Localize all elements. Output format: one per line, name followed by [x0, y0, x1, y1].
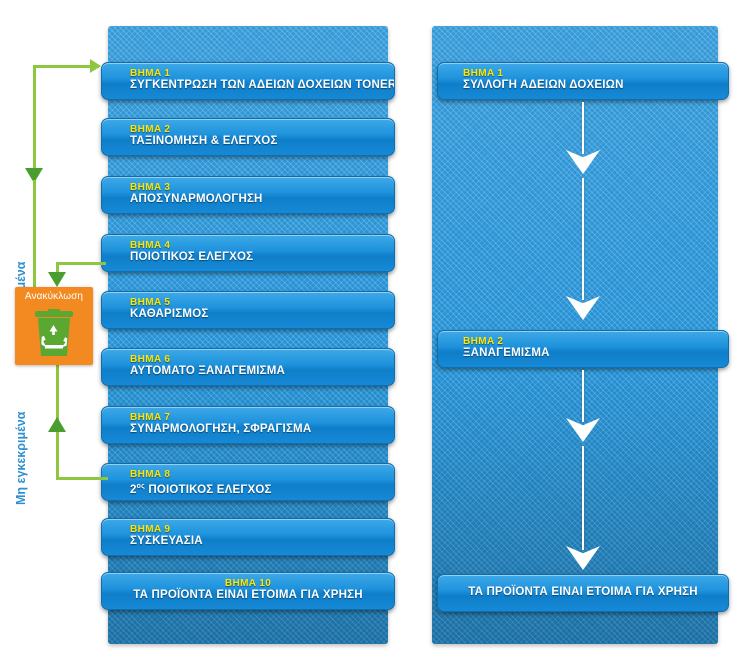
right-step-2-number: BHMA 2 — [463, 336, 728, 347]
left-step-2[interactable]: BHMA 2 ΤΑΞΙΝΟΜΗΣΗ & ΕΛΕΓΧΟΣ — [101, 118, 395, 156]
left-step-2-title: ΤΑΞΙΝΟΜΗΣΗ & ΕΛΕΓΧΟΣ — [130, 135, 394, 148]
reject-label-bottom: Μη εγκεκριμένα — [14, 412, 28, 505]
left-step-4-number: BHMA 4 — [130, 240, 394, 251]
right-final-step-title: ΤΑ ΠΡΟΪΟΝΤΑ ΕΙΝΑΙ ΕΤΟΙΜΑ ΓΙΑ ΧΡΗΣΗ — [438, 586, 728, 599]
left-step-3-title: ΑΠΟΣΥΝΑΡΜΟΛΟΓΗΣΗ — [130, 193, 394, 206]
left-step-9[interactable]: BHMA 9 ΣΥΣΚΕΥΑΣΙΑ — [101, 518, 395, 556]
left-step-5-number: BHMA 5 — [130, 297, 394, 308]
left-step-9-number: BHMA 9 — [130, 524, 394, 535]
flow-arrow-down-1 — [566, 102, 600, 176]
right-step-2-title: ΞΑΝΑΓΕΜΙΣΜΑ — [463, 347, 728, 360]
left-step-4[interactable]: BHMA 4 ΠΟΙΟΤΙΚΟΣ ΕΛΕΓΧΟΣ — [101, 234, 395, 272]
flow-arrow-down-2 — [566, 178, 600, 322]
recycling-box-label: Ανακύκλωση — [15, 291, 93, 302]
right-step-1-title: ΣΥΛΛΟΓΗ ΑΔΕΙΩΝ ΔΟΧΕΙΩΝ — [463, 79, 728, 92]
left-step-1[interactable]: BHMA 1 ΣΥΓΚΕΝΤΡΩΣΗ ΤΩΝ ΑΔΕΙΩΝ ΔΟΧΕΙΩΝ TO… — [101, 62, 395, 100]
recycle-line-upper-vertical — [33, 65, 36, 170]
left-step-8-number: BHMA 8 — [130, 469, 394, 480]
left-step-10[interactable]: BHMA 10 ΤΑ ΠΡΟΪΟΝΤΑ ΕΙΝΑΙ ΕΤΟΙΜΑ ΓΙΑ ΧΡΗ… — [101, 572, 395, 610]
right-final-step[interactable]: ΤΑ ΠΡΟΪΟΝΤΑ ΕΙΝΑΙ ΕΤΟΙΜΑ ΓΙΑ ΧΡΗΣΗ — [437, 574, 729, 612]
recycle-line-upper-vertical-2 — [33, 180, 36, 290]
left-step-6[interactable]: BHMA 6 ΑΥΤΟΜΑΤΟ ΞΑΝΑΓΕΜΙΣΜΑ — [101, 348, 395, 386]
left-step-5[interactable]: BHMA 5 ΚΑΘΑΡΙΣΜΟΣ — [101, 291, 395, 329]
left-step-10-title: ΤΑ ΠΡΟΪΟΝΤΑ ΕΙΝΑΙ ΕΤΟΙΜΑ ΓΙΑ ΧΡΗΣΗ — [102, 589, 394, 602]
flow-arrow-down-3 — [566, 370, 600, 444]
recycle-line-step8-horizontal — [56, 477, 108, 480]
left-step-4-title: ΠΟΙΟΤΙΚΟΣ ΕΛΕΓΧΟΣ — [130, 251, 394, 264]
left-step-1-title: ΣΥΓΚΕΝΤΡΩΣΗ ΤΩΝ ΑΔΕΙΩΝ ΔΟΧΕΙΩΝ TONER — [130, 79, 394, 92]
recycle-bin-icon — [33, 309, 75, 357]
left-step-1-number: BHMA 1 — [130, 68, 394, 79]
recycle-arrowhead-down-step4 — [48, 272, 66, 287]
recycling-box[interactable]: Ανακύκλωση — [15, 287, 93, 365]
left-step-6-title: ΑΥΤΟΜΑΤΟ ΞΑΝΑΓΕΜΙΣΜΑ — [130, 365, 394, 378]
left-step-7[interactable]: BHMA 7 ΣΥΝΑΡΜΟΛΟΓΗΣΗ, ΣΦΡΑΓΙΣΜΑ — [101, 406, 395, 444]
left-step-7-number: BHMA 7 — [130, 412, 394, 423]
recycle-line-step4-horizontal — [56, 262, 106, 265]
right-step-2[interactable]: BHMA 2 ΞΑΝΑΓΕΜΙΣΜΑ — [437, 330, 729, 368]
left-step-9-title: ΣΥΣΚΕΥΑΣΙΑ — [130, 535, 394, 548]
left-step-3[interactable]: BHMA 3 ΑΠΟΣΥΝΑΡΜΟΛΟΓΗΣΗ — [101, 176, 395, 214]
recycle-arrowhead-up-lower — [48, 417, 66, 432]
left-step-2-number: BHMA 2 — [130, 124, 394, 135]
left-step-8-title: 2ος ΠΟΙΟΤΙΚΟΣ ΕΛΕΓΧΟΣ — [130, 480, 394, 497]
right-step-1[interactable]: BHMA 1 ΣΥΛΛΟΓΗ ΑΔΕΙΩΝ ΔΟΧΕΙΩΝ — [437, 62, 729, 100]
left-step-3-number: BHMA 3 — [130, 182, 394, 193]
recycle-arrowhead-to-step1 — [90, 59, 101, 73]
left-step-5-title: ΚΑΘΑΡΙΣΜΟΣ — [130, 308, 394, 321]
left-step-7-title: ΣΥΝΑΡΜΟΛΟΓΗΣΗ, ΣΦΡΑΓΙΣΜΑ — [130, 423, 394, 436]
left-step-6-number: BHMA 6 — [130, 354, 394, 365]
right-step-1-number: BHMA 1 — [463, 68, 728, 79]
flow-arrow-down-4 — [566, 446, 600, 572]
left-step-8[interactable]: BHMA 8 2ος ΠΟΙΟΤΙΚΟΣ ΕΛΕΓΧΟΣ — [101, 463, 395, 501]
left-step-10-number: BHMA 10 — [102, 578, 394, 589]
diagram-canvas: BHMA 1 ΣΥΓΚΕΝΤΡΩΣΗ ΤΩΝ ΑΔΕΙΩΝ ΔΟΧΕΙΩΝ TO… — [0, 0, 740, 670]
